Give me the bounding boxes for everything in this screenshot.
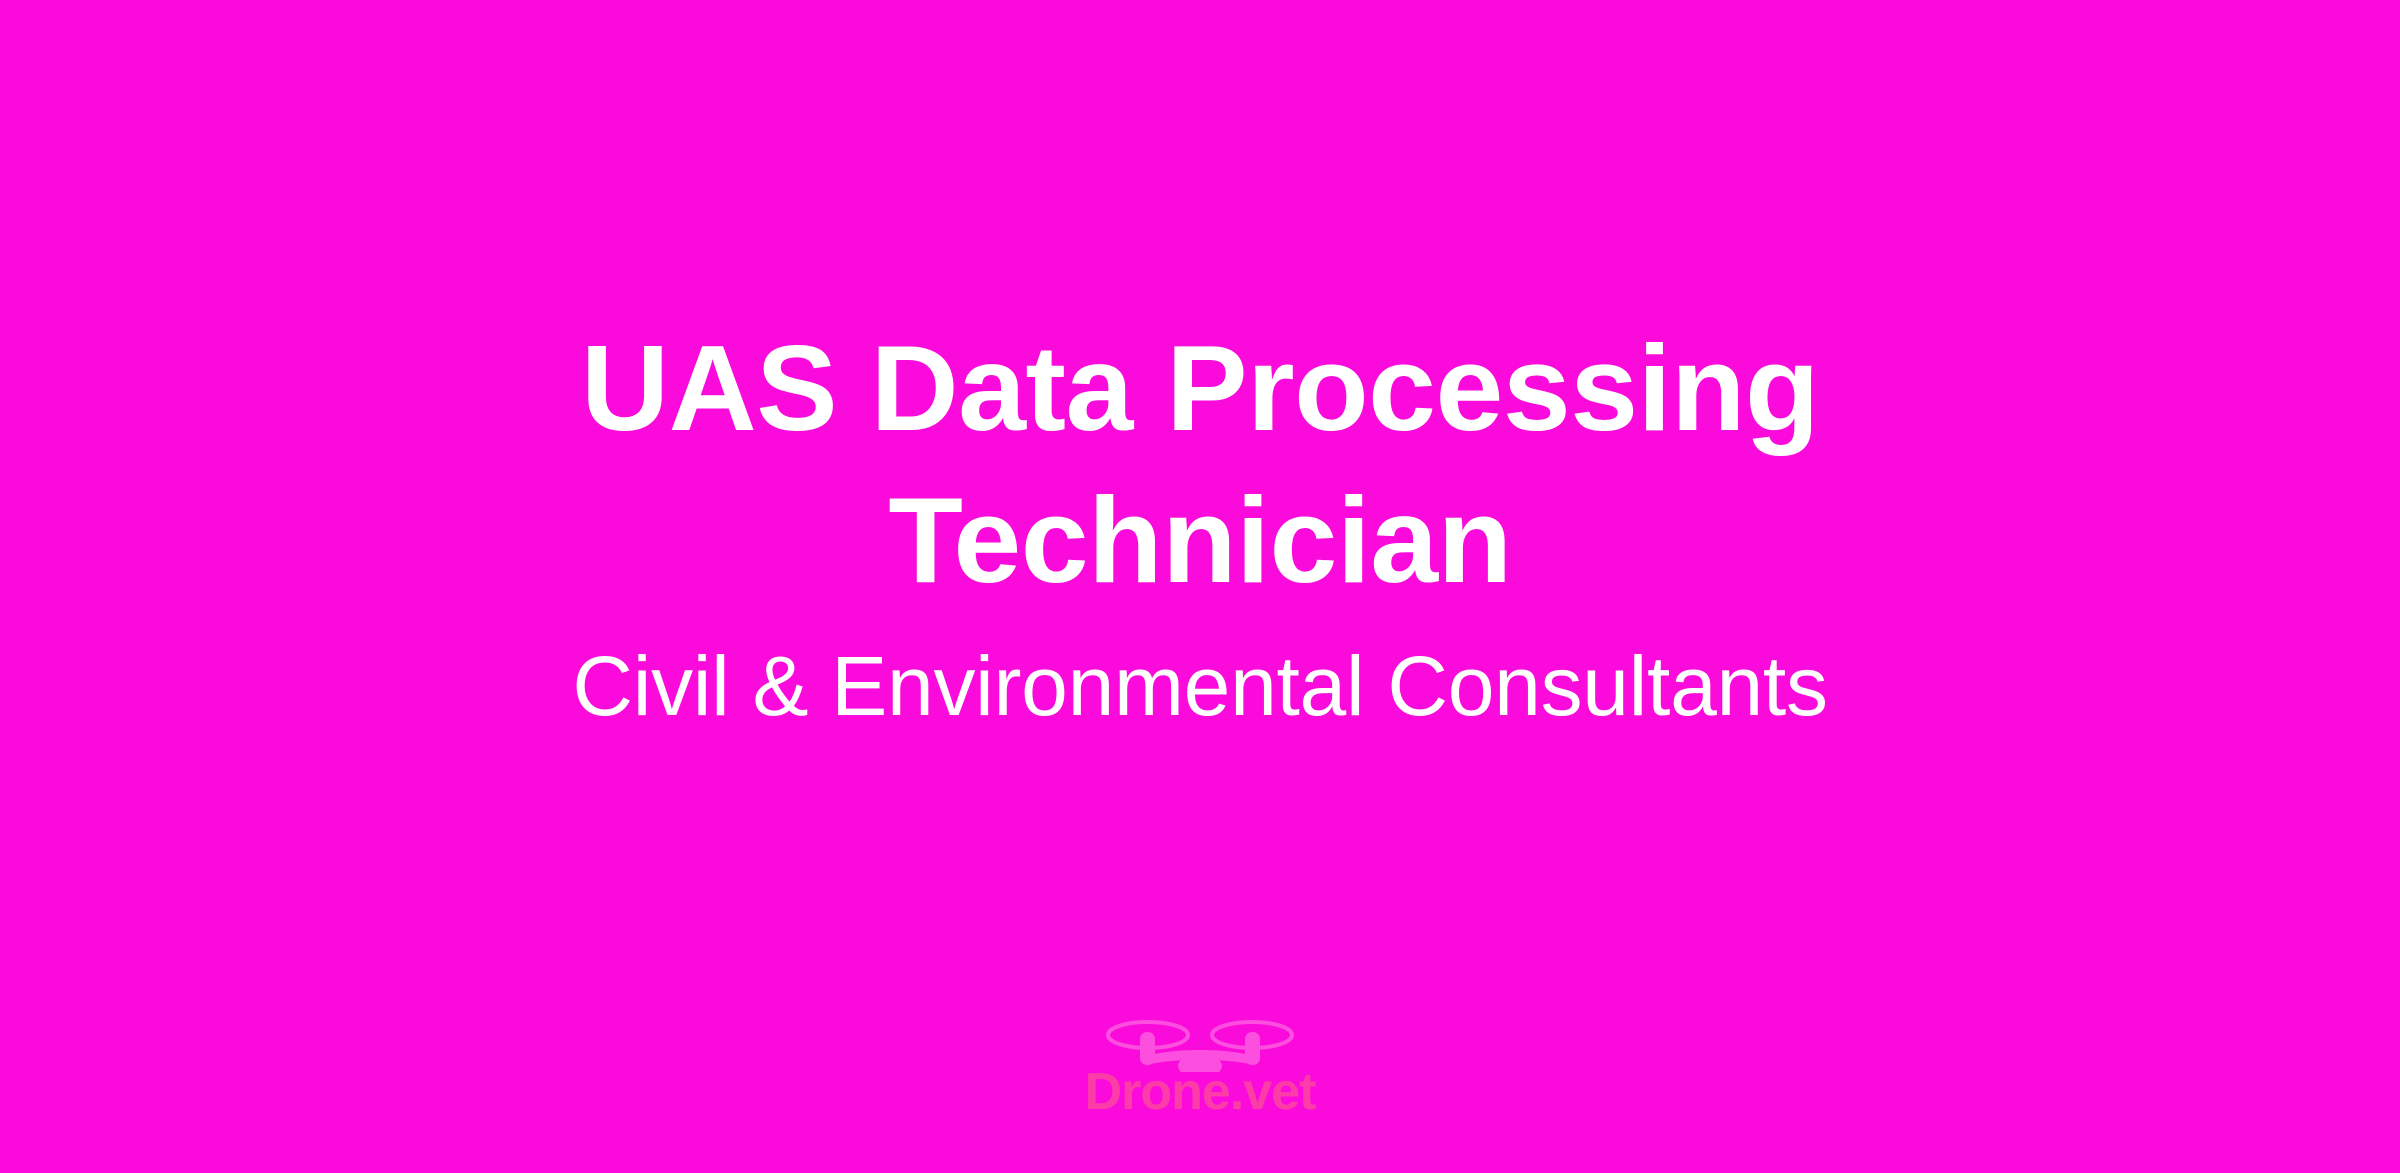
title-text-block: UAS Data Processing Technician Civil & E… [0, 0, 2400, 1173]
page-title: UAS Data Processing Technician [550, 312, 1850, 616]
job-title-card: UAS Data Processing Technician Civil & E… [0, 0, 2400, 1173]
company-subtitle: Civil & Environmental Consultants [400, 636, 2000, 736]
